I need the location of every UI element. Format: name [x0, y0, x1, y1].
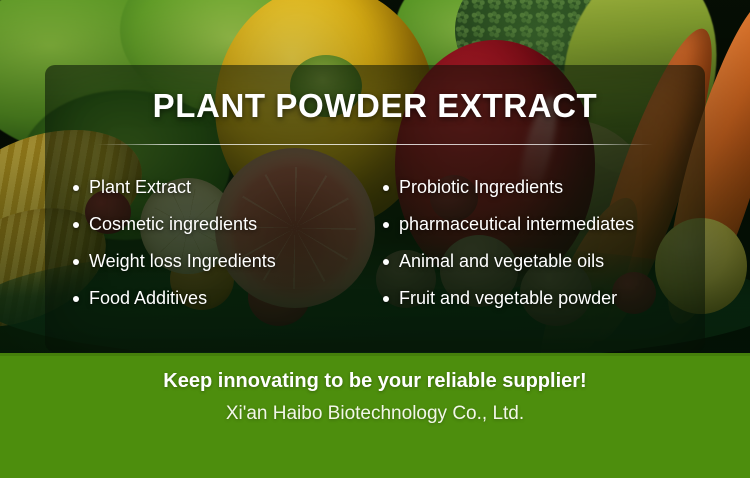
content-panel: PLANT POWDER EXTRACT Plant Extract Cosme…: [45, 65, 705, 352]
footer-tagline: Keep innovating to be your reliable supp…: [0, 370, 750, 393]
bullet-icon: [383, 222, 389, 228]
promotional-banner: PLANT POWDER EXTRACT Plant Extract Cosme…: [0, 0, 750, 478]
footer-bar: Keep innovating to be your reliable supp…: [0, 353, 750, 478]
bullet-icon: [383, 259, 389, 265]
feature-list-right: Probiotic Ingredients pharmaceutical int…: [383, 169, 705, 317]
list-item-label: Weight loss Ingredients: [89, 251, 276, 272]
feature-list-left: Plant Extract Cosmetic ingredients Weigh…: [73, 169, 375, 317]
list-item: Cosmetic ingredients: [73, 206, 375, 243]
list-item: Animal and vegetable oils: [383, 243, 705, 280]
list-item-label: pharmaceutical intermediates: [399, 214, 634, 235]
feature-lists: Plant Extract Cosmetic ingredients Weigh…: [45, 169, 705, 317]
bullet-icon: [383, 296, 389, 302]
list-item-label: Animal and vegetable oils: [399, 251, 604, 272]
list-item: Plant Extract: [73, 169, 375, 206]
bullet-icon: [73, 259, 79, 265]
bullet-icon: [73, 296, 79, 302]
footer-top-edge: [0, 353, 750, 356]
bullet-icon: [73, 185, 79, 191]
list-item: Probiotic Ingredients: [383, 169, 705, 206]
list-item-label: Fruit and vegetable powder: [399, 288, 617, 309]
feature-column-left: Plant Extract Cosmetic ingredients Weigh…: [45, 169, 375, 317]
list-item: Weight loss Ingredients: [73, 243, 375, 280]
list-item: pharmaceutical intermediates: [383, 206, 705, 243]
bullet-icon: [383, 185, 389, 191]
bullet-icon: [73, 222, 79, 228]
list-item: Fruit and vegetable powder: [383, 280, 705, 317]
page-title: PLANT POWDER EXTRACT: [45, 87, 705, 125]
feature-column-right: Probiotic Ingredients pharmaceutical int…: [375, 169, 705, 317]
company-name: Xi'an Haibo Biotechnology Co., Ltd.: [0, 403, 750, 425]
title-divider: [97, 144, 653, 145]
list-item-label: Plant Extract: [89, 177, 191, 198]
list-item-label: Food Additives: [89, 288, 207, 309]
list-item: Food Additives: [73, 280, 375, 317]
list-item-label: Probiotic Ingredients: [399, 177, 563, 198]
list-item-label: Cosmetic ingredients: [89, 214, 257, 235]
